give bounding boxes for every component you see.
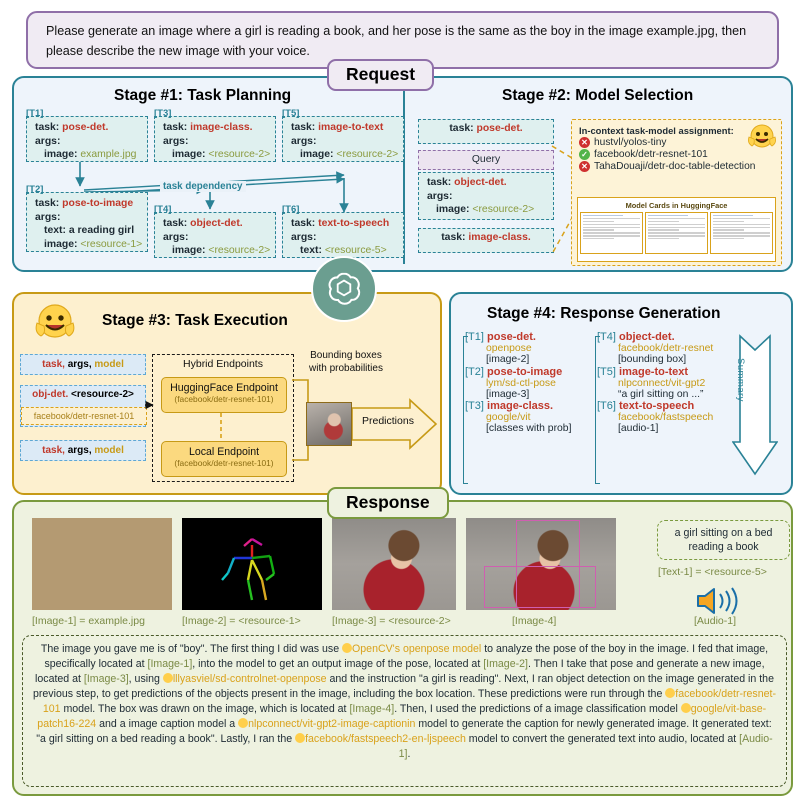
t5-task-value: image-to-text (318, 122, 383, 133)
narrative-fragment: and a image caption model a (96, 718, 238, 730)
t1-task-value: pose-det. (62, 122, 108, 133)
task-box-t1[interactable]: task: pose-det. args: image: example.jpg (26, 116, 148, 162)
summary-arrow-icon (732, 334, 778, 480)
response-badge: Response (327, 487, 449, 519)
r-t1-output: [image-2] (465, 354, 615, 365)
r-t4-id: [T4] (597, 331, 616, 343)
image-3-thumbnail (332, 518, 456, 610)
narrative-fragment: The image you gave me is of "boy". The f… (41, 643, 342, 655)
narrative-fragment: , into the model to get an output image … (192, 658, 483, 670)
r-t1-id: [T1] (465, 331, 484, 343)
t4-task-key: task: (163, 218, 187, 229)
t2-image-value: <resource-1> (80, 239, 142, 250)
query-label-box: Query (418, 150, 554, 170)
t2-args-key: args: (35, 212, 60, 223)
t1-task-key: task: (35, 122, 59, 133)
hugging-face-icon (295, 733, 305, 743)
tam-model-label: model (94, 359, 123, 370)
t3-task-key: task: (163, 122, 187, 133)
stage4-panel: Stage #4: Response Generation [T1] pose-… (449, 292, 793, 495)
r-t3-model: google/vit (465, 412, 615, 423)
asset-reference: [Image-2] (483, 658, 528, 670)
r-t6-task: text-to-speech (619, 400, 694, 412)
stage4-title: Stage #4: Response Generation (487, 305, 720, 323)
q-task-value: object-det. (454, 177, 507, 188)
r-t6-id: [T6] (597, 400, 616, 412)
hugging-face-icon (747, 123, 777, 151)
t4-image-value: <resource-2> (208, 245, 270, 256)
response-panel: [Image-1] = example.jpg [Image-2] = <res… (12, 500, 793, 796)
result-item-t1[interactable]: [T1] pose-det. openpose [image-2] (465, 331, 615, 365)
t6-args-key: args: (291, 232, 316, 243)
stage1-title: Stage #1: Task Planning (114, 87, 291, 105)
r-t5-output: “a girl sitting on ...” (597, 389, 747, 400)
task-box-t3[interactable]: task: image-class. args: image: <resourc… (154, 116, 276, 162)
summary-label: Summary (735, 358, 746, 402)
tam-task-label: task, (42, 445, 65, 456)
bounding-box-book (484, 566, 596, 608)
text-1-caption: [Text-1] = <resource-5> (658, 566, 767, 578)
q-args-key: args: (427, 191, 452, 202)
model-card-thumb[interactable] (580, 212, 643, 254)
image-4-thumbnail (466, 518, 616, 610)
t6-task-key: task: (291, 218, 315, 229)
t6-text-key: text: (300, 245, 322, 256)
generated-caption-box: a girl sitting on a bed reading a book (657, 520, 790, 560)
model-option-2[interactable]: ✕ TahaDouaji/detr-doc-table-detection (579, 161, 774, 172)
asset-reference: [Image-4] (349, 703, 394, 715)
result-item-t2[interactable]: [T2] pose-to-image lym/sd-ctl-pose [imag… (465, 366, 615, 400)
query-box-below[interactable]: task: image-class. (418, 228, 554, 253)
task-box-t4[interactable]: task: object-det. args: image: <resource… (154, 212, 276, 258)
t2-task-value: pose-to-image (62, 198, 133, 209)
r-t2-output: [image-3] (465, 389, 615, 400)
hybrid-endpoints-box: Hybrid Endpoints HuggingFace Endpoint (f… (152, 354, 294, 482)
in-context-title: In-context task-model assignment: (579, 125, 774, 136)
openai-logo-icon (311, 256, 377, 322)
task-id-t3: [T3] (154, 108, 171, 119)
endpoint-link (220, 413, 223, 441)
t6-task-value: text-to-speech (318, 218, 389, 229)
model-card-thumb[interactable] (710, 212, 773, 254)
tam-model-label: model (94, 445, 123, 456)
r-t4-model: facebook/detr-resnet (597, 343, 747, 354)
image-2-caption: [Image-2] = <resource-1> (182, 615, 301, 627)
bounding-boxes-text: Bounding boxes with probabilities (309, 350, 383, 374)
t3-image-value: <resource-2> (208, 149, 270, 160)
stage4-right-column: [T4] object-det. facebook/detr-resnet [b… (597, 331, 747, 435)
narrative-fragment: . Then, I used the predictions of a imag… (394, 703, 681, 715)
hf-endpoint-name: HuggingFace Endpoint (162, 378, 286, 394)
r-t3-id: [T3] (465, 400, 484, 412)
narrative-fragment: model to convert the generated text into… (466, 733, 739, 745)
t6-text-value: <resource-5> (325, 245, 387, 256)
model-option-1[interactable]: ✓ facebook/detr-resnet-101 (579, 149, 774, 160)
prediction-image (306, 402, 352, 446)
pose-skeleton-icon (182, 518, 322, 610)
model-name-0: hustvl/yolos-tiny (594, 137, 666, 148)
figure-root: Please generate an image where a girl is… (0, 0, 805, 808)
t2-text-key: text: (44, 225, 66, 236)
request-text: Please generate an image where a girl is… (46, 22, 761, 61)
r-t1-model: openpose (465, 343, 615, 354)
task-id-t1: [T1] (26, 108, 43, 119)
result-item-t4[interactable]: [T4] object-det. facebook/detr-resnet [b… (597, 331, 747, 365)
narrative-fragment: . (407, 748, 410, 760)
result-item-t3[interactable]: [T3] image-class. google/vit [classes wi… (465, 400, 615, 434)
t1-args-key: args: (35, 136, 60, 147)
r-t5-id: [T5] (597, 366, 616, 378)
request-badge: Request (327, 59, 434, 91)
speaker-icon (695, 586, 751, 616)
t4-args-key: args: (163, 232, 188, 243)
t1-image-value: example.jpg (80, 149, 136, 160)
hugging-face-icon (342, 643, 352, 653)
task-dependency-label: task dependency (160, 181, 246, 192)
task-id-t4: [T4] (154, 204, 171, 215)
model-card-thumb[interactable] (645, 212, 708, 254)
r-t3-task: image-class. (487, 400, 553, 412)
r-t1-task: pose-det. (487, 331, 536, 343)
model-cards-title: Model Cards in HuggingFace (578, 198, 775, 212)
asset-reference: [Image-1] (148, 658, 193, 670)
task-box-t6[interactable]: task: text-to-speech args: text: <resour… (282, 212, 404, 258)
obj-det-request-box[interactable]: obj-det. <resource-2> facebook/detr-resn… (20, 385, 146, 427)
r-t6-model: facebook/fastspeech (597, 412, 747, 423)
r-t5-model: nlpconnect/vit-gpt2 (597, 378, 747, 389)
t3-task-value: image-class. (190, 122, 252, 133)
hugging-face-icon (238, 718, 248, 728)
t5-args-key: args: (291, 136, 316, 147)
image-1-caption: [Image-1] = example.jpg (32, 615, 145, 627)
t4-task-value: object-det. (190, 218, 243, 229)
tam-task-label: task, (42, 359, 65, 370)
obj-task-label: obj-det. (32, 389, 68, 400)
q-task-key: task: (427, 177, 451, 188)
obj-model-label: facebook/detr-resnet-101 (21, 407, 147, 425)
stage2-title: Stage #2: Model Selection (502, 87, 693, 105)
query-box-main[interactable]: task: object-det. args: image: <resource… (418, 172, 554, 220)
t5-task-key: task: (291, 122, 315, 133)
t5-image-value: <resource-2> (336, 149, 398, 160)
q-image-key: image: (436, 204, 470, 215)
tam-args-label: args, (68, 445, 92, 456)
asset-reference: [Image-3] (84, 673, 129, 685)
rejected-icon: ✕ (579, 137, 590, 148)
huggingface-endpoint[interactable]: HuggingFace Endpoint (facebook/detr-resn… (161, 377, 287, 413)
narrative-fragment: model. The box was drawn on the image, w… (61, 703, 350, 715)
r-t2-id: [T2] (465, 366, 484, 378)
predictions-label: Predictions (362, 415, 414, 427)
model-option-0[interactable]: ✕ hustvl/yolos-tiny (579, 137, 774, 148)
hybrid-endpoints-title: Hybrid Endpoints (153, 355, 293, 370)
task-box-t5[interactable]: task: image-to-text args: image: <resour… (282, 116, 404, 162)
obj-det-line: obj-det. <resource-2> (21, 386, 145, 400)
r-t4-output: [bounding box] (597, 354, 747, 365)
t1-image-key: image: (44, 149, 78, 160)
rejected-icon: ✕ (579, 161, 590, 172)
r-t6-output: [audio-1] (597, 423, 747, 434)
narrative-text: The image you gave me is of "boy". The f… (22, 635, 787, 787)
hugging-face-icon (681, 703, 691, 713)
stage3-title: Stage #3: Task Execution (102, 312, 288, 330)
obj-resource-label: <resource-2> (71, 389, 134, 400)
local-endpoint[interactable]: Local Endpoint (facebook/detr-resnet-101… (161, 441, 287, 477)
r-t2-model: lym/sd-ctl-pose (465, 378, 615, 389)
t2-image-key: image: (44, 239, 78, 250)
task-id-t2: [T2] (26, 184, 43, 195)
hugging-face-icon (163, 673, 173, 683)
q-above-task-key: task: (449, 123, 473, 134)
r-t4-task: object-det. (619, 331, 675, 343)
t4-image-key: image: (172, 245, 206, 256)
image-2-thumbnail (182, 518, 322, 610)
model-reference: nlpconnect/vit-gpt2-image-captionin (248, 718, 415, 730)
model-cards-panel: Model Cards in HuggingFace (577, 197, 776, 262)
hugging-face-icon (33, 302, 77, 342)
tam-args-label: args, (68, 359, 92, 370)
local-endpoint-name: Local Endpoint (162, 442, 286, 458)
task-box-t2[interactable]: task: pose-to-image args: text: a readin… (26, 192, 148, 252)
audio-1-caption: [Audio-1] (694, 615, 736, 627)
model-name-2: TahaDouaji/detr-doc-table-detection (594, 161, 755, 172)
q-below-task-key: task: (441, 232, 465, 243)
q-above-task-value: pose-det. (476, 123, 522, 134)
local-endpoint-model: (facebook/detr-resnet-101) (162, 458, 286, 468)
image-4-caption: [Image-4] (512, 615, 556, 627)
task-args-model-box-bottom[interactable]: task, args, model (20, 440, 146, 461)
task-args-model-box-top[interactable]: task, args, model (20, 354, 146, 375)
q-below-task-value: image-class. (468, 232, 530, 243)
image-3-caption: [Image-3] = <resource-2> (332, 615, 451, 627)
model-name-1: facebook/detr-resnet-101 (594, 149, 708, 160)
r-t5-task: image-to-text (619, 366, 688, 378)
narrative-fragment: , using (129, 673, 163, 685)
model-reference: OpenCV's openpose model (352, 643, 481, 655)
q-image-value: <resource-2> (472, 204, 534, 215)
t2-task-key: task: (35, 198, 59, 209)
result-item-t5[interactable]: [T5] image-to-text nlpconnect/vit-gpt2 “… (597, 366, 747, 400)
stage4-left-column: [T1] pose-det. openpose [image-2] [T2] p… (465, 331, 615, 435)
hugging-face-icon (665, 688, 675, 698)
model-reference: facebook/fastspeech2-en-ljspeech (305, 733, 466, 745)
task-id-t5: [T5] (282, 108, 299, 119)
selected-icon: ✓ (579, 149, 590, 160)
r-t3-output: [classes with prob] (465, 423, 615, 434)
t2-text-value: a reading girl (69, 225, 134, 236)
result-item-t6[interactable]: [T6] text-to-speech facebook/fastspeech … (597, 400, 747, 434)
query-box-above[interactable]: task: pose-det. (418, 119, 554, 144)
model-reference: lllyasviel/sd-controlnet-openpose (173, 673, 327, 685)
image-1-thumbnail (32, 518, 172, 610)
model-cards-row (578, 212, 775, 256)
task-id-t6: [T6] (282, 204, 299, 215)
hf-endpoint-model: (facebook/detr-resnet-101) (162, 394, 286, 404)
t5-image-key: image: (300, 149, 334, 160)
t3-image-key: image: (172, 149, 206, 160)
t3-args-key: args: (163, 136, 188, 147)
r-t2-task: pose-to-image (487, 366, 562, 378)
